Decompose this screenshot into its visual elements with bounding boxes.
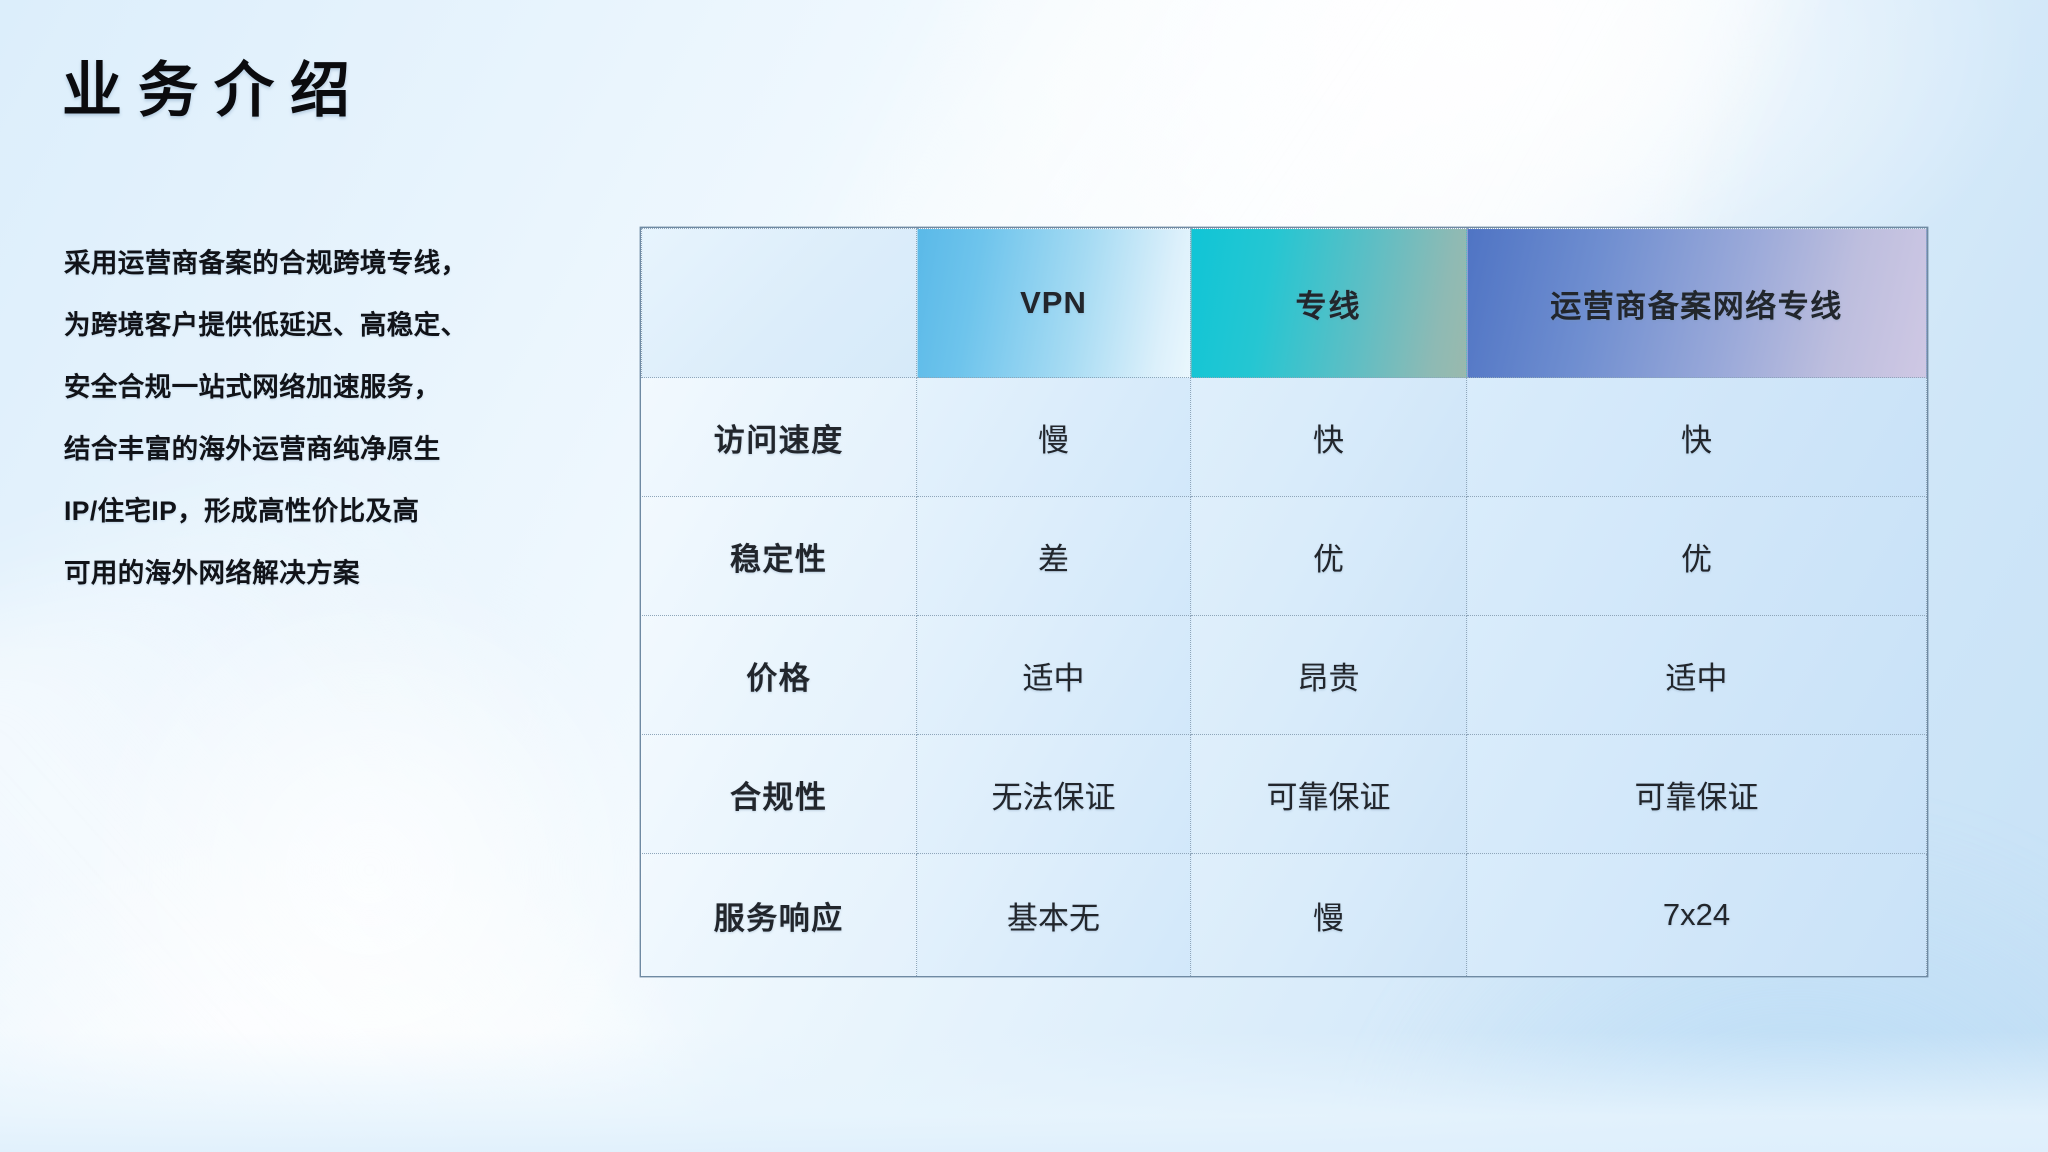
page-title: 业务介绍	[62, 58, 366, 124]
cell-carrier: 7x24	[1467, 854, 1927, 977]
header-cell-blank	[642, 229, 917, 378]
cell-carrier: 适中	[1467, 616, 1927, 735]
intro-line: IP/住宅IP，形成高性价比及高	[64, 480, 624, 542]
cell-vpn: 适中	[917, 616, 1191, 735]
intro-line: 采用运营商备案的合规跨境专线，	[64, 232, 624, 294]
table-row: 稳定性 差 优 优	[642, 497, 1927, 616]
header-cell-vpn: VPN	[917, 229, 1191, 378]
table-row: 合规性 无法保证 可靠保证 可靠保证	[642, 735, 1927, 854]
intro-line: 结合丰富的海外运营商纯净原生	[64, 418, 624, 480]
cell-carrier: 可靠保证	[1467, 735, 1927, 854]
cell-line: 昂贵	[1191, 616, 1467, 735]
intro-line: 为跨境客户提供低延迟、高稳定、	[64, 294, 624, 356]
cell-vpn: 慢	[917, 378, 1191, 497]
row-label: 服务响应	[642, 854, 917, 977]
comparison-table: VPN 专线 运营商备案网络专线 访问速度 慢 快 快 稳定性 差 优 优 价格…	[641, 228, 1927, 976]
table-header-row: VPN 专线 运营商备案网络专线	[642, 229, 1927, 378]
intro-line: 安全合规一站式网络加速服务，	[64, 356, 624, 418]
row-label: 访问速度	[642, 378, 917, 497]
header-cell-carrier-line: 运营商备案网络专线	[1467, 229, 1927, 378]
cell-line: 可靠保证	[1191, 735, 1467, 854]
row-label: 价格	[642, 616, 917, 735]
intro-line: 可用的海外网络解决方案	[64, 542, 624, 604]
cell-vpn: 无法保证	[917, 735, 1191, 854]
row-label: 稳定性	[642, 497, 917, 616]
cell-vpn: 差	[917, 497, 1191, 616]
table-header: VPN 专线 运营商备案网络专线	[642, 229, 1927, 378]
table-row: 访问速度 慢 快 快	[642, 378, 1927, 497]
cell-carrier: 快	[1467, 378, 1927, 497]
intro-paragraph: 采用运营商备案的合规跨境专线， 为跨境客户提供低延迟、高稳定、 安全合规一站式网…	[64, 232, 624, 604]
cell-carrier: 优	[1467, 497, 1927, 616]
table-row: 价格 适中 昂贵 适中	[642, 616, 1927, 735]
cell-line: 快	[1191, 378, 1467, 497]
cell-line: 优	[1191, 497, 1467, 616]
cell-line: 慢	[1191, 854, 1467, 977]
header-cell-dedicated-line: 专线	[1191, 229, 1467, 378]
bottom-fade-band	[0, 1032, 2048, 1152]
table-row: 服务响应 基本无 慢 7x24	[642, 854, 1927, 977]
table-body: 访问速度 慢 快 快 稳定性 差 优 优 价格 适中 昂贵 适中 合规性 无法保…	[642, 378, 1927, 977]
cell-vpn: 基本无	[917, 854, 1191, 977]
row-label: 合规性	[642, 735, 917, 854]
